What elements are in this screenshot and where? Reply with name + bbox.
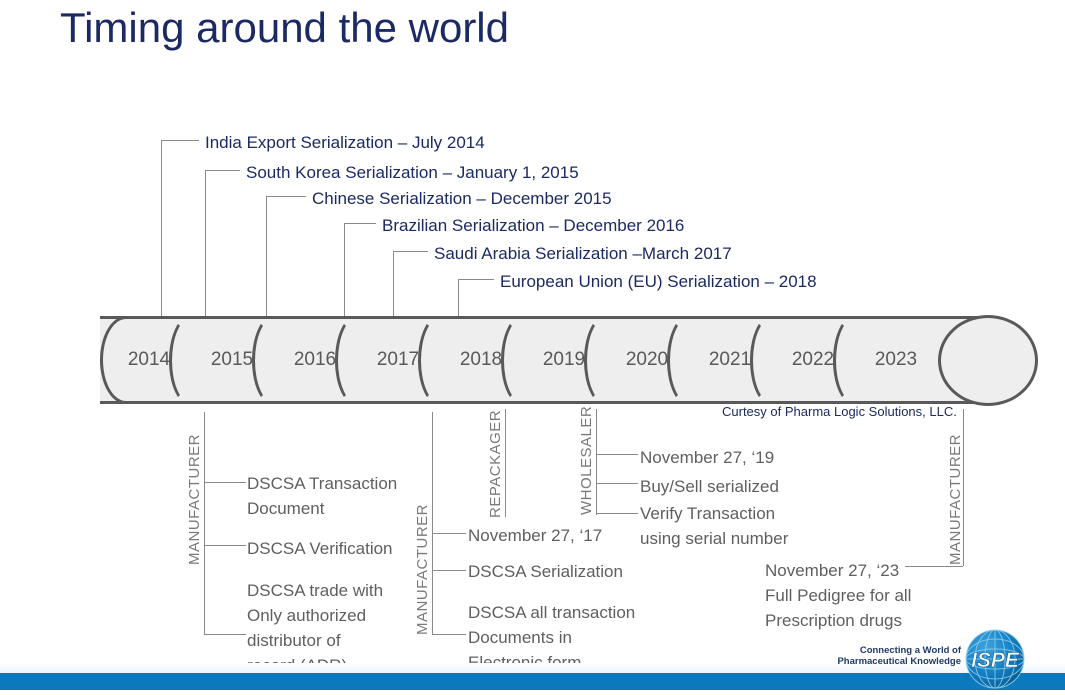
bottom-note-8: Verify Transaction using serial number bbox=[640, 501, 788, 551]
callout-leader-vertical-0 bbox=[161, 140, 162, 320]
callout-label-0: India Export Serialization – July 2014 bbox=[205, 133, 485, 153]
bottom-leader-2 bbox=[204, 545, 246, 546]
year-label-2019[interactable]: 2019 bbox=[525, 316, 603, 404]
bottom-leader-3 bbox=[204, 634, 246, 635]
bottom-leader-9 bbox=[596, 409, 597, 515]
bottom-leader-1 bbox=[204, 482, 246, 483]
callout-leader-horizontal-0 bbox=[161, 140, 199, 141]
bottom-leader-7 bbox=[432, 634, 466, 635]
bottom-leader-10 bbox=[596, 454, 638, 455]
credit-text: Curtesy of Pharma Logic Solutions, LLC. bbox=[722, 404, 957, 419]
role-label-manufacturer-1: MANUFACTURER bbox=[414, 525, 431, 635]
callout-leader-vertical-4 bbox=[393, 251, 394, 320]
callout-label-2: Chinese Serialization – December 2015 bbox=[312, 189, 612, 209]
callout-leader-vertical-5 bbox=[458, 279, 459, 320]
year-label-2020[interactable]: 2020 bbox=[608, 316, 686, 404]
role-label-manufacturer-4: MANUFACTURER bbox=[947, 437, 964, 565]
year-label-2016[interactable]: 2016 bbox=[276, 316, 354, 404]
role-label-repackager-2: REPACKAGER bbox=[487, 410, 504, 518]
callout-label-4: Saudi Arabia Serialization –March 2017 bbox=[434, 244, 732, 264]
callout-leader-vertical-2 bbox=[266, 196, 267, 320]
year-label-2015[interactable]: 2015 bbox=[193, 316, 271, 404]
bottom-leader-0 bbox=[204, 412, 205, 634]
bottom-note-4: DSCSA Serialization bbox=[468, 559, 623, 584]
callout-leader-vertical-3 bbox=[344, 223, 345, 320]
bottom-leader-13 bbox=[963, 409, 964, 566]
bottom-leader-6 bbox=[432, 570, 466, 571]
year-label-2014[interactable]: 2014 bbox=[110, 316, 188, 404]
bottom-leader-11 bbox=[596, 483, 638, 484]
bottom-note-0: DSCSA Transaction Document bbox=[247, 471, 397, 521]
callout-label-5: European Union (EU) Serialization – 2018 bbox=[500, 272, 817, 292]
bottom-note-6: November 27, ‘19 bbox=[640, 445, 774, 470]
callout-leader-horizontal-3 bbox=[344, 223, 376, 224]
callout-leader-horizontal-1 bbox=[205, 170, 240, 171]
callout-label-3: Brazilian Serialization – December 2016 bbox=[382, 216, 684, 236]
bottom-note-1: DSCSA Verification bbox=[247, 536, 393, 561]
ispe-tagline: Connecting a World of Pharmaceutical Kno… bbox=[837, 645, 961, 667]
year-label-2023[interactable]: 2023 bbox=[857, 316, 935, 404]
bottom-leader-14 bbox=[905, 566, 963, 567]
ispe-logo: ISPE bbox=[962, 628, 1028, 690]
callout-leader-vertical-1 bbox=[205, 170, 206, 320]
year-label-2017[interactable]: 2017 bbox=[359, 316, 437, 404]
bottom-leader-4 bbox=[432, 412, 433, 634]
footer-bar bbox=[0, 673, 1065, 690]
year-label-2021[interactable]: 2021 bbox=[691, 316, 769, 404]
bottom-note-3: November 27, ‘17 bbox=[468, 523, 602, 548]
bottom-leader-8 bbox=[505, 409, 506, 517]
bottom-leader-5 bbox=[432, 533, 466, 534]
page-title: Timing around the world bbox=[60, 4, 509, 52]
bottom-note-7: Buy/Sell serialized bbox=[640, 474, 779, 499]
ispe-logo-text: ISPE bbox=[971, 649, 1020, 672]
role-label-wholesaler-3: WHOLESALER bbox=[578, 410, 595, 515]
callout-leader-horizontal-2 bbox=[266, 196, 306, 197]
callout-label-1: South Korea Serialization – January 1, 2… bbox=[246, 163, 579, 183]
year-label-2018[interactable]: 2018 bbox=[442, 316, 520, 404]
year-label-2022[interactable]: 2022 bbox=[774, 316, 852, 404]
role-label-manufacturer-0: MANUFACTURER bbox=[186, 455, 203, 565]
callout-leader-horizontal-4 bbox=[393, 251, 428, 252]
bottom-note-9: November 27, ‘23 Full Pedigree for all P… bbox=[765, 558, 911, 633]
callout-leader-horizontal-5 bbox=[458, 279, 494, 280]
timeline-cylinder: 2014201520162017201820192020202120222023 bbox=[100, 316, 988, 404]
cylinder-right-cap bbox=[938, 315, 1038, 406]
bottom-leader-12 bbox=[596, 513, 638, 514]
